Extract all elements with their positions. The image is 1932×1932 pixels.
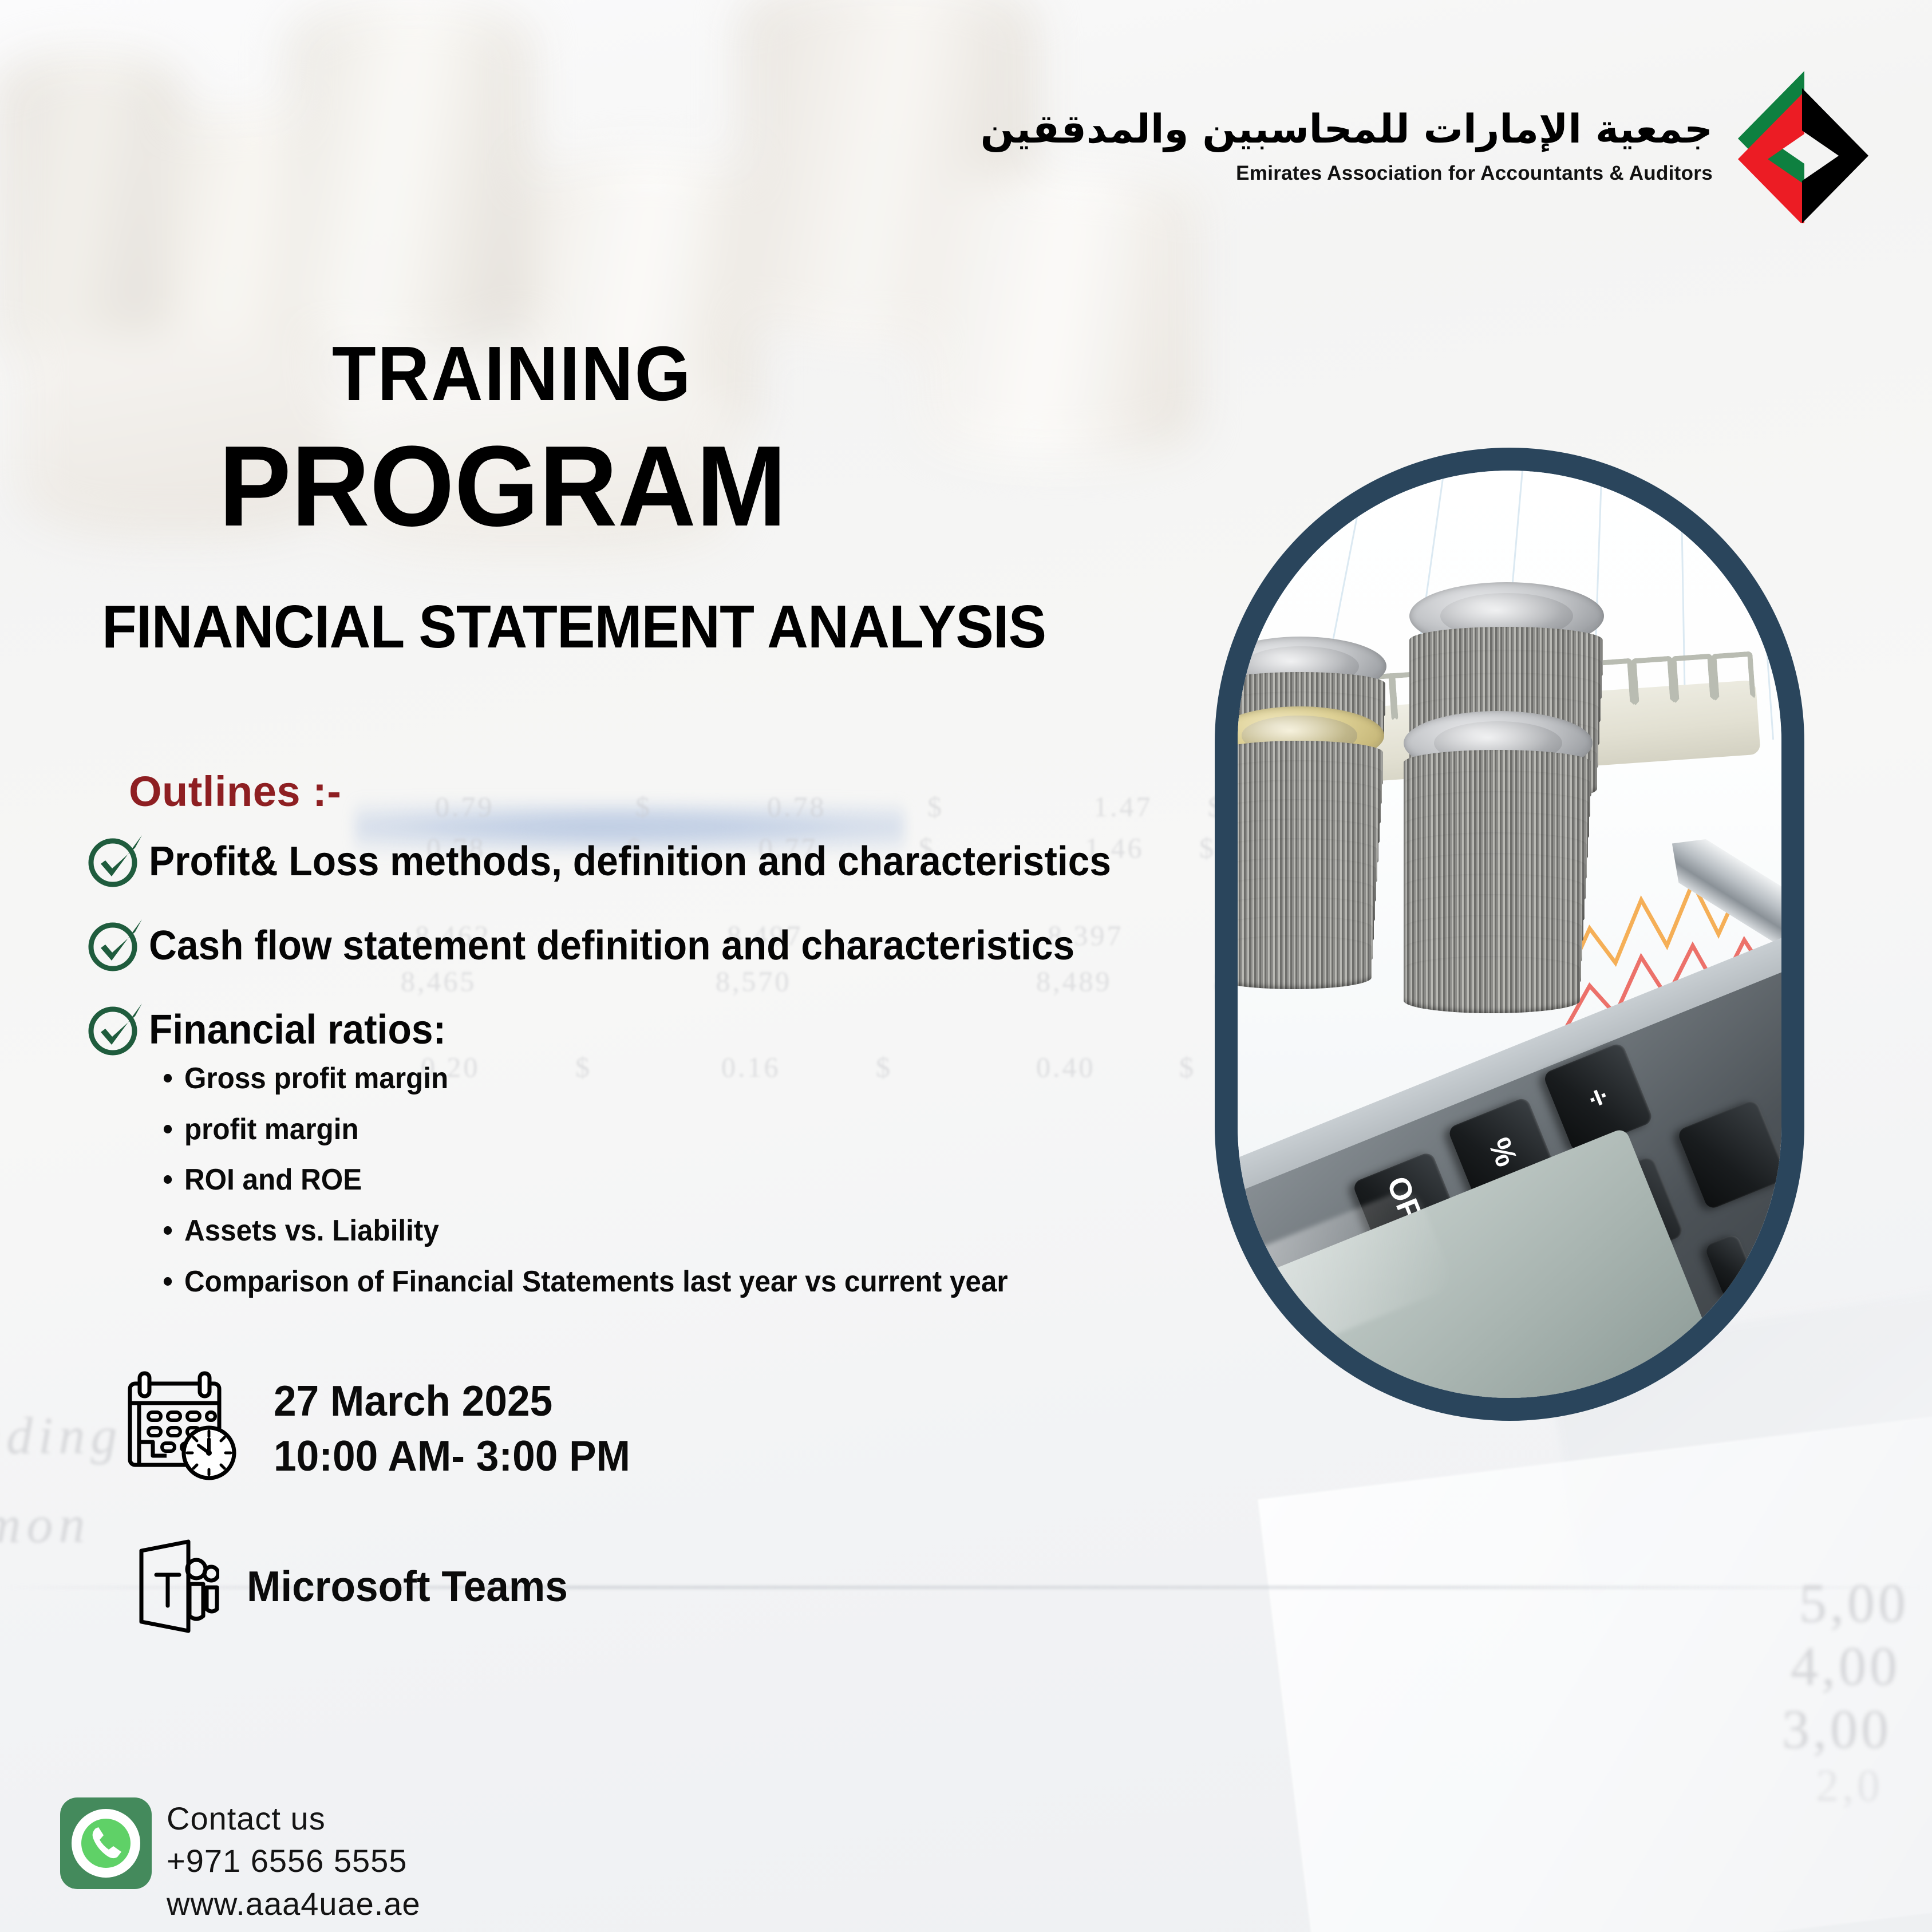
ledger-row: 0.79 bbox=[435, 790, 495, 823]
logo-english-name: Emirates Association for Accountants & A… bbox=[981, 162, 1713, 185]
outline-item-label: Profit& Loss methods, definition and cha… bbox=[149, 833, 1111, 883]
hero-photo: OFF % ÷ GT √ bbox=[1238, 471, 1781, 1398]
logo-text-block: جمعية الإمارات للمحاسبين والمدققين Emira… bbox=[981, 107, 1713, 184]
outline-item: Cash flow statement definition and chara… bbox=[86, 917, 1231, 974]
outline-item-label: Financial ratios: bbox=[149, 1001, 446, 1051]
check-circle-icon bbox=[86, 831, 149, 890]
background-corner-number: 5,00 bbox=[1799, 1571, 1909, 1635]
event-datetime: 27 March 2025 10:00 AM- 3:00 PM bbox=[274, 1373, 630, 1483]
background-italic-word: nding bbox=[0, 1405, 123, 1466]
microsoft-teams-icon bbox=[133, 1538, 219, 1634]
contact-phone[interactable]: +971 6556 5555 bbox=[167, 1840, 421, 1882]
sublist-item: profit margin bbox=[184, 1110, 1008, 1149]
outlines-checklist: Profit& Loss methods, definition and cha… bbox=[86, 833, 1231, 1085]
background-corner-number: 4,00 bbox=[1791, 1634, 1901, 1698]
event-time: 10:00 AM- 3:00 PM bbox=[274, 1432, 630, 1480]
contact-website[interactable]: www.aaa4uae.ae bbox=[167, 1883, 421, 1925]
background-corner-number: 2,0 bbox=[1816, 1760, 1883, 1812]
event-platform: Microsoft Teams bbox=[247, 1559, 568, 1614]
photo-coin-stack-front bbox=[1404, 711, 1593, 1077]
sublist-item: Gross profit margin bbox=[184, 1059, 1008, 1099]
outline-item: Financial ratios: bbox=[86, 1001, 1231, 1058]
ledger-row: 1.47 bbox=[1093, 790, 1153, 823]
ledger-row: 0.78 bbox=[767, 790, 827, 823]
whatsapp-icon[interactable] bbox=[60, 1797, 152, 1889]
background-corner-number: 3,00 bbox=[1782, 1697, 1892, 1761]
event-details: 27 March 2025 10:00 AM- 3:00 PM Microsof… bbox=[123, 1371, 649, 1687]
event-datetime-row: 27 March 2025 10:00 AM- 3:00 PM bbox=[123, 1371, 649, 1485]
training-program-poster: 0.79 $ 0.78 $ 1.47 $ 0.78 $ 0.77 $ 1.46 … bbox=[0, 0, 1932, 1932]
outline-item-label: Cash flow statement definition and chara… bbox=[149, 917, 1074, 967]
contact-block: Contact us +971 6556 5555 www.aaa4uae.ae bbox=[60, 1797, 421, 1925]
logo-arabic-name: جمعية الإمارات للمحاسبين والمدققين bbox=[981, 107, 1713, 152]
event-date: 27 March 2025 bbox=[274, 1377, 552, 1425]
contact-lines: Contact us +971 6556 5555 www.aaa4uae.ae bbox=[167, 1797, 421, 1925]
event-platform-row: Microsoft Teams bbox=[123, 1538, 649, 1634]
ledger-row: $ bbox=[635, 790, 652, 823]
calendar-clock-icon bbox=[123, 1371, 246, 1485]
ledger-row: $ bbox=[927, 790, 944, 823]
sublist-item: Comparison of Financial Statements last … bbox=[184, 1262, 1008, 1302]
hero-image-frame: OFF % ÷ GT √ bbox=[1215, 448, 1804, 1421]
association-logo: جمعية الإمارات للمحاسبين والمدققين Emira… bbox=[981, 69, 1878, 223]
logo-chevron-mark bbox=[1735, 69, 1878, 223]
sublist-item: Assets vs. Liability bbox=[184, 1211, 1008, 1251]
check-circle-icon bbox=[86, 999, 149, 1058]
page-title-line1: TRAINING bbox=[332, 329, 692, 418]
sublist-item: ROI and ROE bbox=[184, 1160, 1008, 1200]
background-italic-word: mon bbox=[0, 1494, 90, 1555]
page-title-line2: PROGRAM bbox=[219, 421, 787, 552]
outlines-heading: Outlines :- bbox=[129, 767, 341, 816]
outline-item: Profit& Loss methods, definition and cha… bbox=[86, 833, 1231, 890]
photo-coin-stack-left bbox=[1238, 637, 1386, 1037]
financial-ratios-sublist: Gross profit margin profit margin ROI an… bbox=[155, 1059, 1051, 1313]
check-circle-icon bbox=[86, 915, 149, 974]
page-subtitle: FINANCIAL STATEMENT ANALYSIS bbox=[102, 592, 1046, 662]
contact-heading: Contact us bbox=[167, 1797, 421, 1840]
